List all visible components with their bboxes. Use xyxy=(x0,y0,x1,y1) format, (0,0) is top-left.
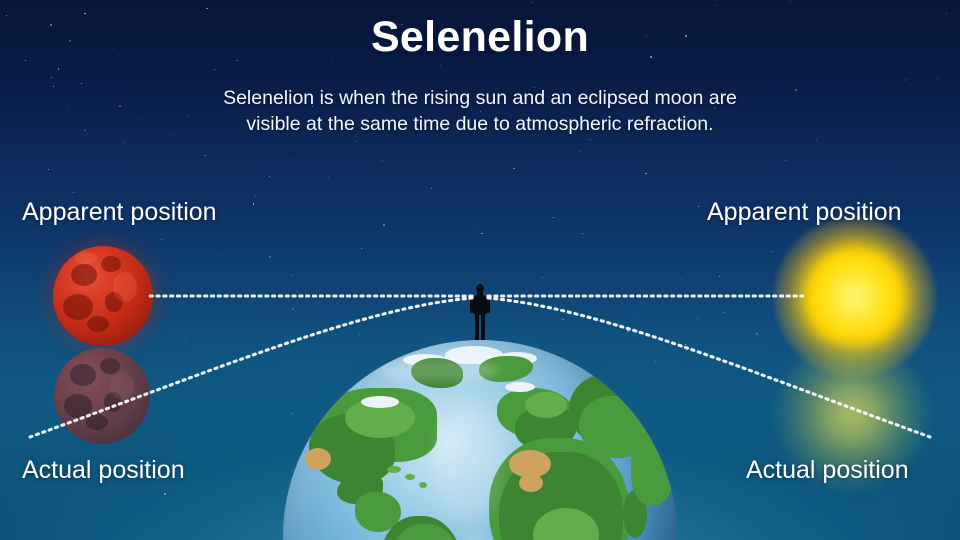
label-moon-actual-position: Actual position xyxy=(22,456,185,485)
star xyxy=(905,79,906,80)
star xyxy=(133,440,134,441)
star xyxy=(756,333,758,335)
star xyxy=(382,160,383,161)
star xyxy=(185,338,186,339)
star xyxy=(206,8,207,9)
observer-silhouette xyxy=(470,284,490,340)
star xyxy=(816,140,817,141)
star xyxy=(123,142,124,143)
eclipsed-moon-actual xyxy=(54,348,150,444)
star xyxy=(481,233,482,234)
star xyxy=(58,68,59,69)
star xyxy=(164,493,166,495)
star xyxy=(214,69,215,70)
star xyxy=(293,158,294,159)
star xyxy=(532,2,533,3)
star xyxy=(680,279,681,280)
star xyxy=(355,141,356,142)
label-sun-apparent-position: Apparent position xyxy=(707,198,902,227)
label-sun-actual-position: Actual position xyxy=(746,456,909,485)
star xyxy=(51,77,52,78)
star xyxy=(627,330,629,332)
subtitle-line-2: visible at the same time due to atmosphe… xyxy=(0,111,960,137)
star xyxy=(772,251,773,252)
page-subtitle: Selenelion is when the rising sun and an… xyxy=(0,85,960,137)
star xyxy=(509,301,510,302)
star xyxy=(204,155,205,156)
star xyxy=(253,203,254,204)
star xyxy=(431,188,432,189)
star xyxy=(553,217,554,218)
star xyxy=(645,173,646,174)
star xyxy=(513,168,514,169)
subtitle-line-1: Selenelion is when the rising sun and an… xyxy=(223,87,737,109)
star xyxy=(697,318,698,319)
star xyxy=(222,255,223,256)
star xyxy=(292,308,294,310)
star xyxy=(269,176,270,177)
star xyxy=(790,1,791,2)
star xyxy=(937,78,938,79)
star xyxy=(685,344,686,345)
star xyxy=(785,160,786,161)
star xyxy=(719,276,720,277)
earth-globe xyxy=(283,340,677,540)
star xyxy=(676,198,677,199)
star xyxy=(359,334,360,335)
star xyxy=(542,277,543,278)
star xyxy=(691,388,692,389)
star xyxy=(580,151,581,152)
selenelion-infographic: .ray { fill:none; stroke:#ffffff; stroke… xyxy=(0,0,960,540)
star xyxy=(161,239,162,240)
star xyxy=(269,256,271,258)
star xyxy=(361,248,362,249)
star xyxy=(48,169,49,170)
star xyxy=(473,230,474,231)
star xyxy=(582,233,583,234)
label-moon-apparent-position: Apparent position xyxy=(22,198,217,227)
star xyxy=(724,312,725,313)
star xyxy=(698,206,699,207)
eclipsed-moon-apparent xyxy=(53,246,153,346)
page-title: Selenelion xyxy=(0,13,960,62)
star xyxy=(81,83,82,84)
star xyxy=(73,192,74,193)
star xyxy=(383,224,385,226)
star xyxy=(562,319,563,320)
star xyxy=(328,177,329,178)
star xyxy=(725,143,726,144)
star xyxy=(291,275,292,276)
star xyxy=(886,181,887,182)
star xyxy=(440,65,441,66)
star xyxy=(255,196,256,197)
star xyxy=(715,5,716,6)
star xyxy=(373,302,374,303)
star xyxy=(590,139,591,140)
